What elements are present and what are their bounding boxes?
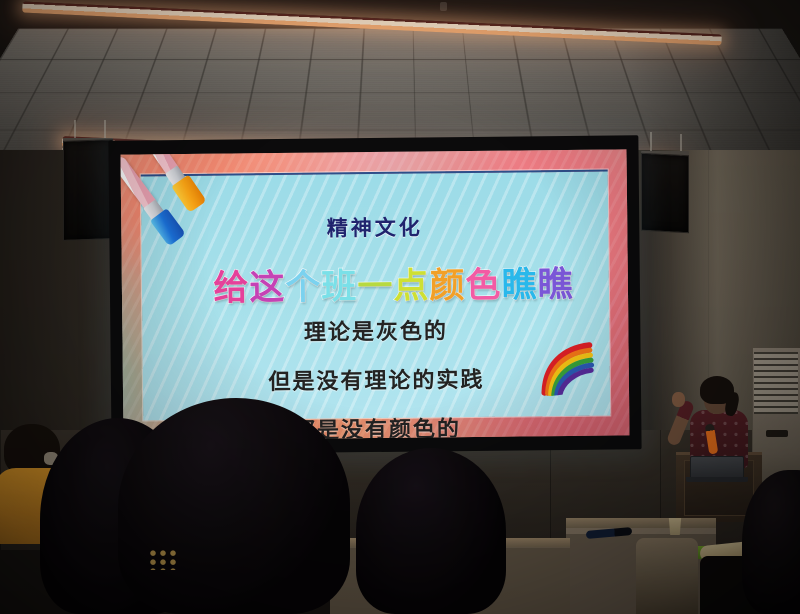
chair [636, 538, 698, 614]
rainbow-brushstroke-icon [533, 339, 601, 398]
paintbrush-group [121, 149, 266, 296]
slide-body-line: 理论是灰色的 [142, 312, 609, 349]
presentation-slide: 精神文化 给这个班一点颜色瞧瞧 理论是灰色的但是没有理论的实践都是没有颜色的 [121, 149, 630, 440]
photo-scene: 精神文化 给这个班一点颜色瞧瞧 理论是灰色的但是没有理论的实践都是没有颜色的 [0, 0, 800, 614]
audience-silhouette [356, 448, 506, 614]
audience-silhouette [118, 398, 350, 614]
wall-speaker-left [63, 139, 113, 241]
presenter [668, 370, 764, 490]
slide-title-char-7: 色 [465, 266, 501, 305]
laptop [686, 456, 748, 482]
slide-title-char-9: 瞧 [537, 265, 573, 304]
slide-title-char-8: 瞧 [501, 265, 537, 304]
slide-title-char-6: 颜 [429, 266, 465, 305]
slide-title-char-3: 班 [321, 267, 357, 306]
desk-surface [566, 518, 716, 528]
lecture-room: 精神文化 给这个班一点颜色瞧瞧 理论是灰色的但是没有理论的实践都是没有颜色的 [0, 0, 800, 614]
laptop-screen [690, 456, 744, 478]
sprinkler-icon [440, 2, 447, 11]
laptop-base [686, 477, 748, 482]
wall-speaker-right [641, 153, 689, 234]
presenter-hand [672, 392, 685, 407]
slide-title-char-4: 一 [357, 267, 393, 306]
paper-cup [668, 518, 682, 535]
ac-badge [766, 430, 788, 437]
hair-clip-icon [150, 550, 180, 570]
slide-title-char-2: 个 [285, 268, 321, 307]
slide-title-char-5: 点 [393, 266, 429, 305]
